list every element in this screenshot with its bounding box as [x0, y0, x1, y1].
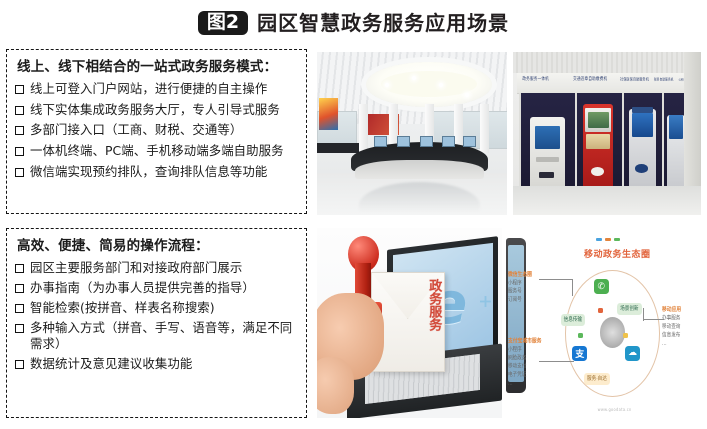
list-item: 智能检索(按拼音、样表名称搜索)	[15, 300, 298, 317]
annotation-item: …	[662, 341, 681, 349]
figure-title-bar: 图2 园区智慧政务服务应用场景	[0, 6, 707, 40]
counter-monitor	[463, 136, 476, 147]
annotation-item: 移动支付	[508, 364, 542, 372]
dot-icon	[605, 238, 611, 241]
diagram-title: 移动政务生态圈	[584, 247, 651, 260]
list-item: 多部门接入口（工商、财税、交通等）	[15, 122, 298, 139]
list-item: 多种输入方式（拼音、手写、语音等，满足不同需求）	[15, 320, 298, 353]
alipay-icon: 支	[572, 346, 587, 361]
kiosk-sign-label: 政务服务一体机	[522, 77, 549, 83]
stamp-illustration: e 政务服务	[317, 228, 502, 418]
list-item-label: 多部门接入口（工商、财税、交通等）	[30, 122, 298, 139]
panel-online-offline-service-model: 线上、线下相结合的一站式政务服务模式： 线上可登入门户网站，进行便捷的自主操作 …	[6, 49, 307, 214]
panel-operation-process: 高效、便捷、简易的操作流程： 园区主要服务部门和对接政府部门展示 办事指南（为办…	[6, 228, 307, 418]
annotation-title: 移动应用	[662, 306, 681, 315]
annotation-wechat: 微信生态圈 小程序 服务号 订阅号	[508, 271, 532, 306]
envelope-text: 政务服务	[427, 279, 441, 331]
kiosk-bay	[622, 93, 664, 186]
pill-information: 信息传输	[561, 314, 585, 326]
ceiling-mesh	[513, 52, 701, 73]
kiosk-sign-label: 社保医保自助服务机	[620, 77, 649, 82]
ecosystem-illustration: 移动政务生态圈 ✆ 支 ☁ 信息传输 场景创新 服务·自达 微信生态圈 小程序 …	[506, 228, 701, 418]
kiosk-screen	[669, 115, 683, 139]
square-bullet-icon	[15, 147, 24, 156]
annotation-item: 订阅号	[508, 297, 532, 305]
counter-monitor	[420, 136, 433, 147]
list-item-label: 微信端实现预约排队，查询排队信息等功能	[30, 164, 298, 181]
annotation-item: 移动查询	[662, 324, 681, 332]
list-item: 办事指南（为办事人员提供完善的指导）	[15, 280, 298, 297]
square-bullet-icon	[15, 85, 24, 94]
connector-line	[643, 308, 644, 321]
kiosk-screen	[588, 112, 609, 128]
list-item: 数据统计及意见建议收集功能	[15, 356, 298, 373]
kiosk-tray	[539, 172, 554, 179]
square-bullet-icon	[15, 264, 24, 273]
floor	[513, 186, 701, 215]
square-bullet-icon	[15, 360, 24, 369]
list-item: 园区主要服务部门和对接政府部门展示	[15, 260, 298, 277]
list-item: 线上可登入门户网站，进行便捷的自主操作	[15, 81, 298, 98]
dot-icon	[596, 238, 602, 241]
photo-service-hall	[317, 52, 507, 215]
list-item: 微信端实现预约排队，查询排队信息等功能	[15, 164, 298, 181]
square-bullet-icon	[15, 126, 24, 135]
accent-square-icon	[578, 333, 583, 338]
list-item-label: 多种输入方式（拼音、手写、语音等，满足不同需求）	[30, 320, 298, 353]
kiosk-emblem-icon	[635, 164, 648, 172]
accent-square-icon	[598, 308, 603, 313]
photo-egov-stamp: e 政务服务	[317, 228, 502, 418]
list-item-label: 一体机终端、PC端、手机移动端多端自助服务	[30, 143, 298, 160]
panel-heading: 高效、便捷、简易的操作流程：	[17, 238, 298, 255]
annotation-item: 电子凭证	[508, 372, 542, 380]
hand-thumb	[317, 357, 354, 414]
title-dots	[596, 238, 620, 241]
connector-line	[572, 279, 573, 296]
panel-heading: 线上、线下相结合的一站式政务服务模式：	[17, 59, 298, 76]
spot-light-icon	[439, 83, 443, 87]
connector-line	[539, 361, 574, 362]
kiosk-card-slot	[536, 157, 559, 162]
kiosk-sign-label: 税务自助服务机	[654, 77, 674, 82]
wall-poster	[319, 98, 338, 131]
kiosk-screen-lower	[586, 134, 610, 149]
square-bullet-icon	[15, 304, 24, 313]
pill-scenario: 场景创新	[617, 303, 641, 315]
annotation-item: 办事服务	[662, 316, 681, 324]
figure-number-badge: 图2	[198, 11, 248, 35]
plus-icon	[480, 296, 491, 307]
bullet-list: 园区主要服务部门和对接政府部门展示 办事指南（为办事人员提供完善的指导） 智能检…	[15, 260, 298, 373]
kiosk-header-bar	[632, 107, 652, 114]
page-title: 园区智慧政务服务应用场景	[257, 13, 509, 33]
kiosk-screen	[632, 113, 654, 137]
annotation-item: 小程序	[508, 348, 542, 356]
connector-line	[643, 319, 664, 320]
citizen-app-icon: ☁	[625, 346, 640, 361]
list-item: 线下实体集成政务服务大厅，专人引导式服务	[15, 102, 298, 119]
counter-monitor	[374, 136, 387, 147]
photo-self-service-kiosks: 政务服务一体机 交通违章自助缴费机 社保医保自助服务机 税务自助服务机 公积金自…	[513, 52, 701, 215]
list-item-label: 数据统计及意见建议收集功能	[30, 356, 298, 373]
counter-monitor	[397, 136, 410, 147]
pill-service: 服务·自达	[584, 373, 610, 385]
wechat-icon: ✆	[594, 279, 609, 294]
annotation-mobile-app: 移动应用 办事服务 移动查询 信息发布 …	[662, 306, 681, 349]
kiosk-row-illustration: 政务服务一体机 交通违章自助缴费机 社保医保自助服务机 税务自助服务机 公积金自…	[513, 52, 701, 215]
annotation-item: 刷脸政务	[508, 356, 542, 364]
list-item-label: 智能检索(按拼音、样表名称搜索)	[30, 300, 298, 317]
accent-square-icon	[623, 333, 628, 338]
square-bullet-icon	[15, 324, 24, 333]
center-user-avatar	[600, 317, 625, 347]
annotation-item: …	[508, 381, 542, 389]
annotation-title: 支付宝城市服务	[508, 338, 542, 347]
counter-base	[355, 160, 484, 180]
square-bullet-icon	[15, 106, 24, 115]
figure-page: 图2 园区智慧政务服务应用场景 线上、线下相结合的一站式政务服务模式： 线上可登…	[0, 0, 707, 429]
square-bullet-icon	[15, 284, 24, 293]
annotation-alipay: 支付宝城市服务 小程序 刷脸政务 移动支付 电子凭证 …	[508, 338, 542, 389]
annotation-item: 小程序	[508, 281, 532, 289]
service-hall-illustration	[317, 52, 507, 215]
list-item-label: 园区主要服务部门和对接政府部门展示	[30, 260, 298, 277]
right-wall	[684, 52, 701, 186]
annotation-item: 服务号	[508, 289, 532, 297]
list-item-label: 线上可登入门户网站，进行便捷的自主操作	[30, 81, 298, 98]
diagram-mobile-gov-ecosystem: 移动政务生态圈 ✆ 支 ☁ 信息传输 场景创新 服务·自达 微信生态圈 小程序 …	[506, 228, 701, 418]
annotation-item: 信息发布	[662, 332, 681, 340]
spot-light-icon	[465, 93, 469, 97]
list-item-label: 办事指南（为办事人员提供完善的指导）	[30, 280, 298, 297]
list-item: 一体机终端、PC端、手机移动端多端自助服务	[15, 143, 298, 160]
connector-line	[539, 279, 572, 280]
kiosk-screen	[535, 126, 560, 148]
pillar	[480, 104, 489, 153]
counter-monitor	[442, 136, 455, 147]
diagram-source-url: www.goodata.cn	[598, 408, 632, 413]
pillar	[359, 104, 368, 153]
kiosk-sign-label: 交通违章自助缴费机	[573, 77, 607, 83]
square-bullet-icon	[15, 168, 24, 177]
dot-icon	[614, 238, 620, 241]
bullet-list: 线上可登入门户网站，进行便捷的自主操作 线下实体集成政务服务大厅，专人引导式服务…	[15, 81, 298, 181]
annotation-title: 微信生态圈	[508, 271, 532, 280]
list-item-label: 线下实体集成政务服务大厅，专人引导式服务	[30, 102, 298, 119]
kiosk-bay	[519, 93, 578, 186]
kiosk-bay	[575, 93, 624, 186]
side-counter	[317, 143, 359, 153]
